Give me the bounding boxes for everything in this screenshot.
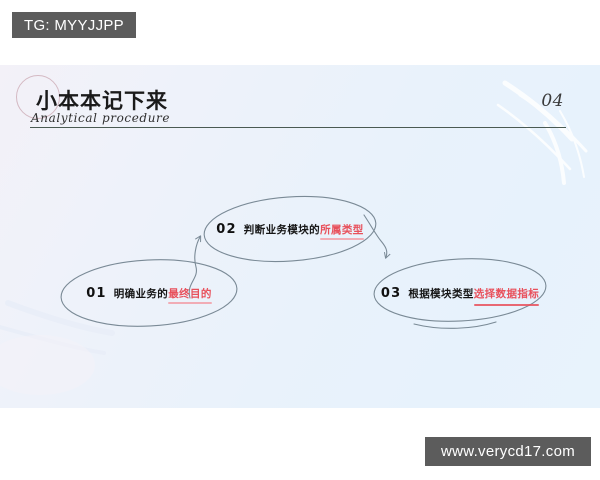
node-02-label-highlight: 所属类型 — [320, 222, 364, 237]
node-01-label-plain: 明确业务的 — [114, 286, 169, 301]
node-03-highlight-text: 选择数据指标 — [474, 288, 539, 300]
header-divider — [30, 127, 566, 128]
flow-node-03[interactable]: 03 根据模块类型 选择数据指标 — [370, 252, 550, 334]
node-02-highlight-underline — [320, 238, 364, 240]
page-number: 04 — [541, 91, 564, 111]
node-01-text: 01 明确业务的 最终目的 — [86, 286, 212, 301]
node-03-label-plain: 根据模块类型 — [408, 286, 473, 301]
node-03-text: 03 根据模块类型 选择数据指标 — [381, 286, 539, 301]
node-01-highlight-text: 最终目的 — [168, 288, 212, 300]
node-03-highlight-underline — [474, 304, 539, 306]
node-02-highlight-text: 所属类型 — [320, 224, 364, 236]
site-watermark-text: www.verycd17.com — [441, 443, 575, 460]
node-03-label-highlight: 选择数据指标 — [474, 286, 539, 301]
node-02-label-plain: 判断业务模块的 — [244, 222, 320, 237]
node-02-text: 02 判断业务模块的 所属类型 — [216, 222, 363, 237]
site-watermark-badge: www.verycd17.com — [425, 437, 591, 466]
telegram-watermark-badge: TG: MYYJJPP — [12, 12, 136, 38]
page-subtitle: Analytical procedure — [31, 111, 170, 125]
flow-node-01[interactable]: 01 明确业务的 最终目的 — [58, 253, 240, 333]
node-03-number: 03 — [381, 286, 402, 301]
node-02-number: 02 — [216, 222, 237, 237]
node-01-label-highlight: 最终目的 — [168, 286, 212, 301]
node-01-highlight-underline — [168, 302, 212, 304]
node-01-number: 01 — [86, 286, 107, 301]
telegram-watermark-text: TG: MYYJJPP — [24, 17, 124, 34]
